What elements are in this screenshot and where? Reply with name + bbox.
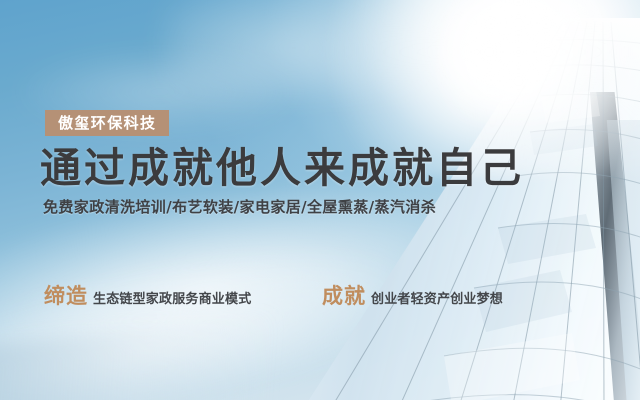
tagline-row: 缔造 生态链型家政服务商业模式 成就 创业者轻资产创业梦想 bbox=[44, 286, 600, 307]
banner-content: 傲玺环保科技 通过成就他人来成就自己 免费家政清洗培训/布艺软装/家电家居/全屋… bbox=[0, 0, 640, 400]
headline: 通过成就他人来成就自己 bbox=[40, 148, 524, 189]
promo-banner: 傲玺环保科技 通过成就他人来成就自己 免费家政清洗培训/布艺软装/家电家居/全屋… bbox=[0, 0, 640, 400]
brand-badge: 傲玺环保科技 bbox=[45, 110, 169, 136]
subheadline: 免费家政清洗培训/布艺软装/家电家居/全屋熏蒸/蒸汽消杀 bbox=[43, 198, 436, 216]
tagline-keyword-2: 成就 bbox=[322, 286, 366, 307]
tagline-text-2: 创业者轻资产创业梦想 bbox=[371, 293, 503, 306]
tagline-text-1: 生态链型家政服务商业模式 bbox=[93, 293, 251, 306]
tagline-keyword-1: 缔造 bbox=[44, 286, 88, 307]
tagline-item-2: 成就 创业者轻资产创业梦想 bbox=[322, 286, 503, 307]
tagline-item-1: 缔造 生态链型家政服务商业模式 bbox=[44, 286, 322, 307]
